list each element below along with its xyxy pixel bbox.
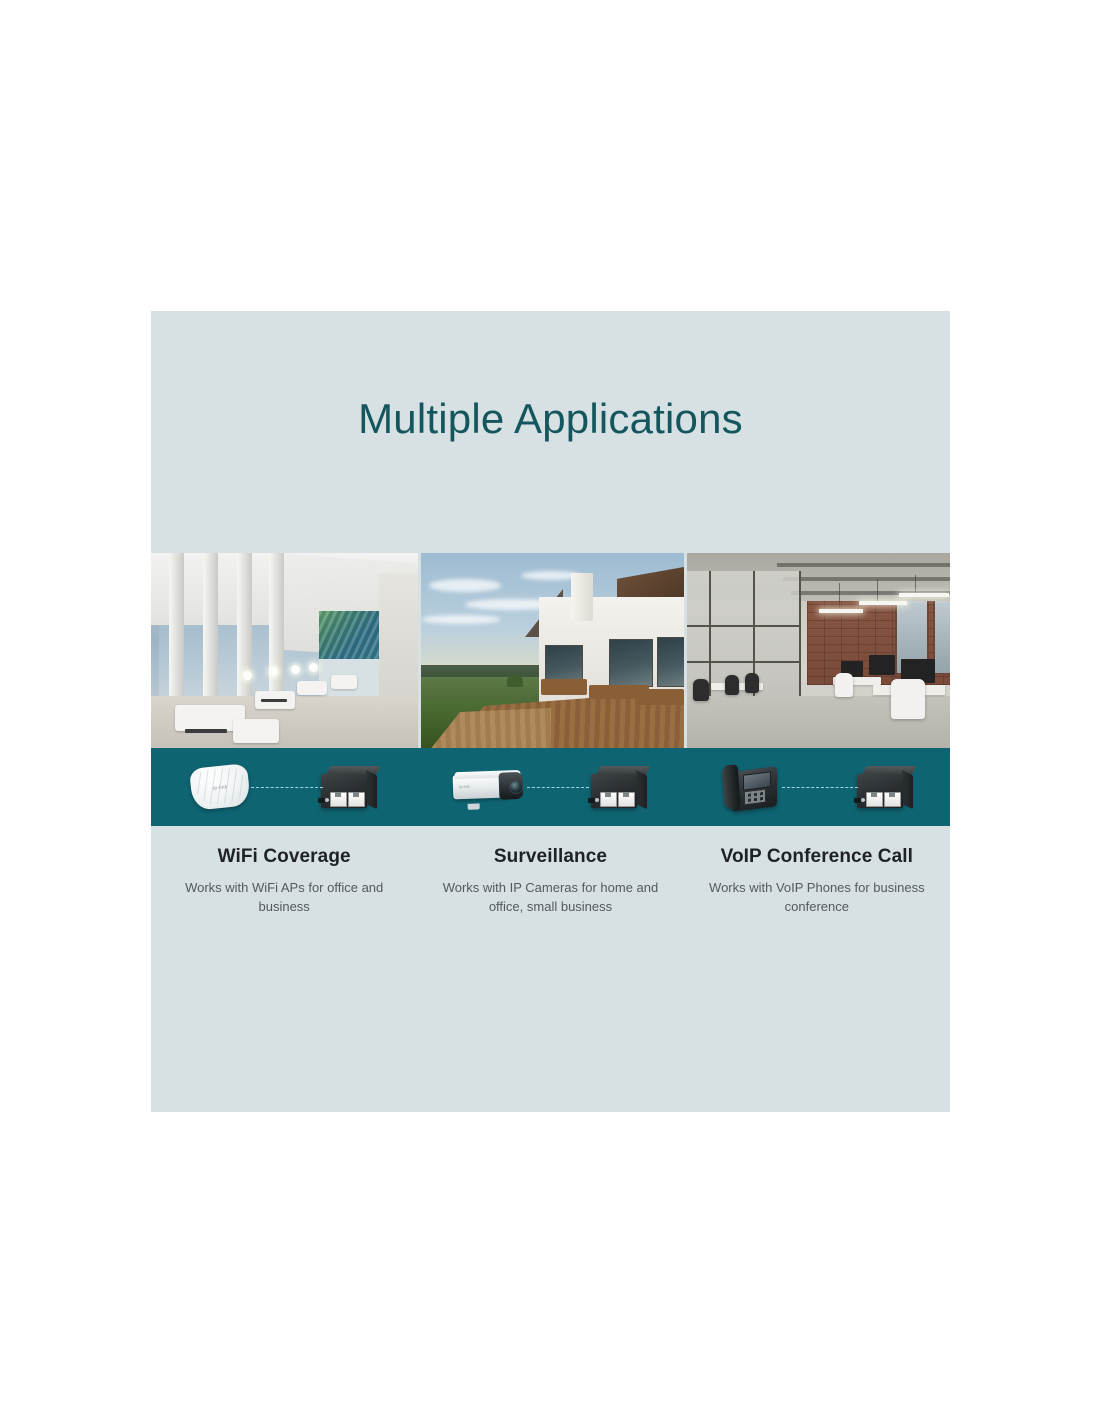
lobby-lamp: [269, 667, 278, 676]
poe-led-icon: [861, 798, 865, 802]
ethernet-link-line: [527, 787, 589, 788]
poe-front-face: [321, 774, 367, 808]
caption-voip-conference-call: VoIP Conference Call Works with VoIP Pho…: [684, 846, 950, 917]
poe-led-icon: [325, 798, 329, 802]
diagram-surveillance: tp-link: [417, 748, 683, 826]
diagram-wifi-coverage: tp-link: [151, 748, 417, 826]
poe-power-jack: [318, 798, 325, 803]
office-pendant-light: [819, 609, 863, 613]
office-ceiling-beam: [783, 577, 950, 581]
poe-rj45-port: [348, 792, 365, 807]
poe-front-face: [591, 774, 637, 808]
camera-brand-label: tp-link: [459, 784, 470, 789]
caption-wifi-coverage: WiFi Coverage Works with WiFi APs for of…: [151, 846, 417, 917]
caption-description: Works with IP Cameras for home and offic…: [431, 879, 669, 917]
device-diagram-band: tp-link: [151, 748, 950, 826]
lobby-sofa: [233, 719, 279, 743]
poe-rj45-port: [866, 792, 883, 807]
ap-brand-label: tp-link: [213, 784, 228, 792]
phone-handset: [721, 764, 740, 809]
office-partition-frame: [687, 661, 799, 663]
photo-strip: [151, 553, 950, 748]
caption-title: Surveillance: [431, 846, 669, 868]
office-chair: [725, 675, 739, 695]
poe-injector-icon: [321, 766, 377, 808]
phone-screen: [743, 771, 771, 790]
office-ceiling-beam: [777, 563, 950, 567]
lobby-coffee-table: [261, 699, 287, 702]
office-partition-frame: [753, 571, 755, 716]
device-diagram-row: tp-link: [151, 748, 950, 826]
ethernet-link-line: [251, 787, 323, 788]
house-lounger: [635, 689, 684, 705]
lobby-coffee-table: [185, 729, 227, 733]
poe-injector-icon: [857, 766, 913, 808]
page-title: Multiple Applications: [151, 398, 950, 440]
voip-phone-icon: [721, 763, 783, 811]
house-cloud: [429, 579, 501, 592]
poe-front-face: [857, 774, 903, 808]
lobby-lamp: [243, 671, 252, 680]
house-chimney: [571, 573, 593, 621]
lobby-scene: [151, 553, 418, 748]
application-captions: WiFi Coverage Works with WiFi APs for of…: [151, 846, 950, 917]
photo-loft-office-interior: [687, 553, 950, 748]
poe-injector-icon: [591, 766, 647, 808]
poe-rj45-port: [618, 792, 635, 807]
office-pendant-cord: [915, 575, 916, 593]
diagram-voip-conference-call: [684, 748, 950, 826]
poe-power-jack: [854, 798, 861, 803]
office-pendant-cord: [877, 579, 878, 601]
poe-rj45-port: [330, 792, 347, 807]
poe-side-face: [366, 770, 377, 809]
caption-description: Works with WiFi APs for office and busin…: [165, 879, 403, 917]
lobby-lamp: [309, 663, 318, 672]
office-pendant-light: [899, 593, 949, 597]
office-chair: [835, 673, 853, 697]
house-outdoor-table: [541, 679, 587, 695]
house-cloud: [421, 615, 501, 624]
lobby-armchair: [331, 675, 357, 689]
lobby-wall-artwork: [319, 611, 385, 659]
house-window: [657, 637, 684, 687]
caption-description: Works with VoIP Phones for business conf…: [698, 879, 936, 917]
poe-rj45-port: [884, 792, 901, 807]
office-pendant-cord: [839, 583, 840, 609]
lobby-armchair: [297, 681, 327, 695]
office-scene: [687, 553, 950, 748]
office-pendant-light: [859, 601, 907, 605]
multiple-applications-card: Multiple Applications: [151, 311, 950, 1112]
poe-side-face: [636, 770, 647, 809]
ethernet-link-line: [782, 787, 858, 788]
office-chair: [693, 679, 709, 701]
office-chair: [891, 679, 925, 719]
poe-led-icon: [595, 798, 599, 802]
caption-title: VoIP Conference Call: [698, 846, 936, 868]
house-planter: [507, 675, 523, 687]
wifi-access-point-icon: tp-link: [189, 763, 251, 811]
house-scene: [421, 553, 684, 748]
lobby-lamp: [291, 665, 300, 674]
poe-side-face: [902, 770, 913, 809]
caption-surveillance: Surveillance Works with IP Cameras for h…: [417, 846, 683, 917]
office-partition-frame: [687, 625, 799, 627]
photo-modern-lobby-interior: [151, 553, 418, 748]
phone-keypad-icon: [745, 790, 765, 804]
poe-power-jack: [588, 798, 595, 803]
ip-camera-icon: tp-link: [453, 769, 530, 806]
camera-mount: [468, 803, 480, 809]
office-partition-frame: [709, 571, 711, 716]
poe-rj45-port: [600, 792, 617, 807]
photo-modern-house-deck: [421, 553, 684, 748]
caption-title: WiFi Coverage: [165, 846, 403, 868]
house-window: [609, 639, 653, 687]
office-monitor: [869, 655, 895, 675]
office-chair: [745, 673, 759, 693]
